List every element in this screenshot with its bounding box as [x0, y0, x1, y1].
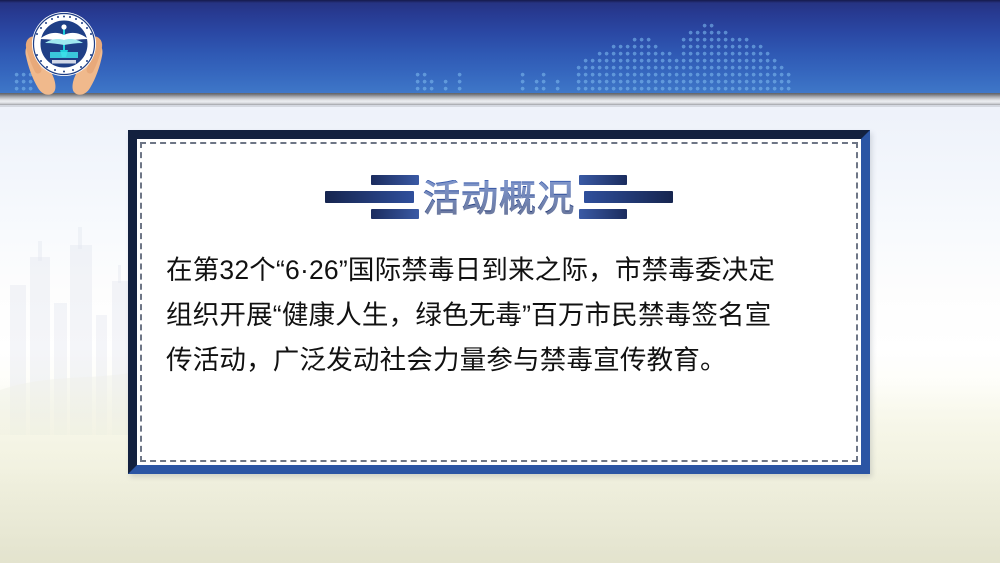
header-dot-cluster-left	[415, 63, 475, 93]
slide-canvas: 活动概况 在第32个“6·26”国际禁毒日到来之际，市禁毒委决定 组织开展“健康…	[0, 0, 1000, 563]
header-dot-skyline	[520, 0, 840, 93]
body-line: 在第32个“6·26”国际禁毒日到来之际，市禁毒委决定	[166, 248, 836, 293]
heading-decoration-right-icon	[579, 174, 673, 222]
emblem-disc	[32, 12, 96, 76]
ground-haze-lower	[0, 467, 1000, 563]
header-band	[0, 0, 1000, 93]
emblem-lettering	[50, 52, 78, 64]
content-panel: 活动概况 在第32个“6·26”国际禁毒日到来之际，市禁毒委决定 组织开展“健康…	[128, 130, 870, 474]
body-line: 传活动，广泛发动社会力量参与禁毒宣传教育。	[166, 338, 836, 383]
section-heading-text: 活动概况	[419, 180, 579, 217]
header-divider-bar	[0, 93, 1000, 105]
heading-decoration-left-icon	[325, 174, 419, 222]
body-line: 组织开展“健康人生，绿色无毒”百万市民禁毒签名宣	[166, 293, 836, 338]
body-paragraph: 在第32个“6·26”国际禁毒日到来之际，市禁毒委决定 组织开展“健康人生，绿色…	[166, 248, 836, 383]
organization-logo	[14, 4, 114, 98]
content-panel-inner-border: 活动概况 在第32个“6·26”国际禁毒日到来之际，市禁毒委决定 组织开展“健康…	[140, 142, 858, 462]
section-heading: 活动概况	[142, 170, 856, 226]
